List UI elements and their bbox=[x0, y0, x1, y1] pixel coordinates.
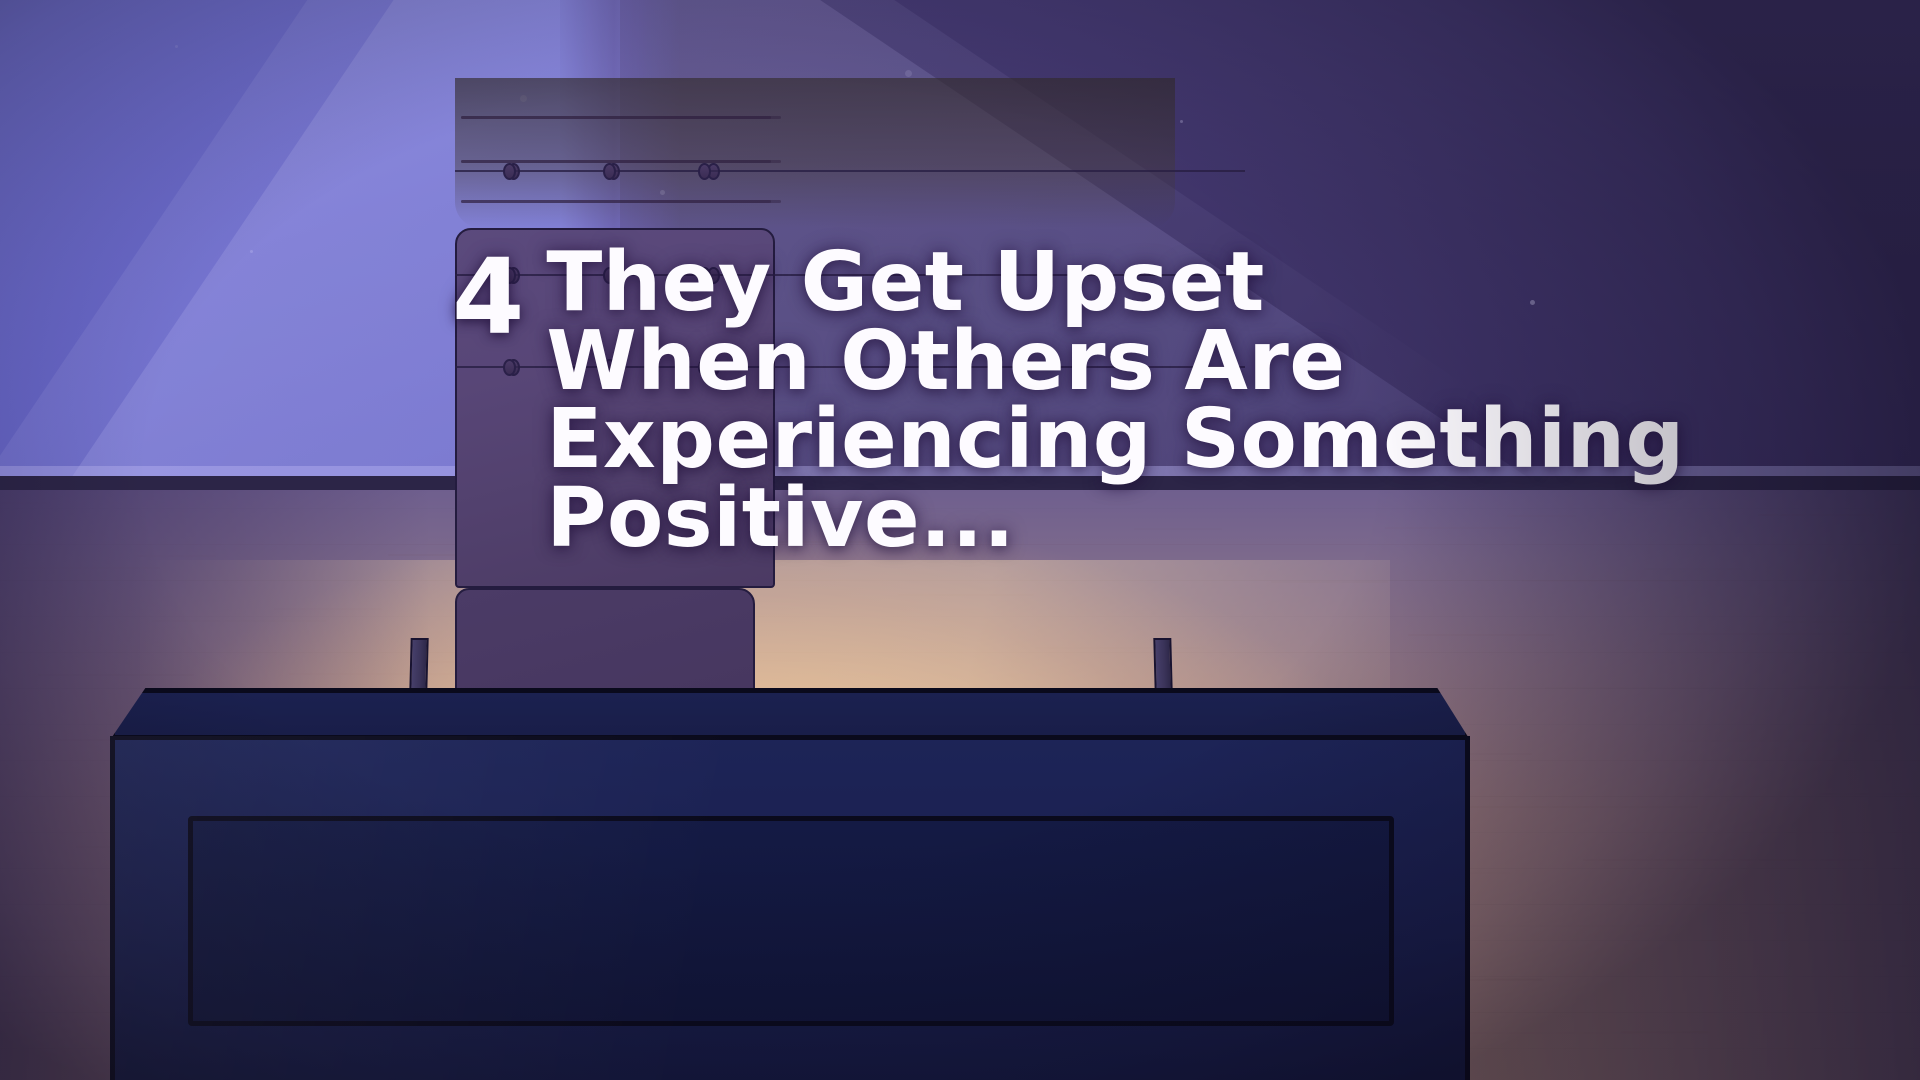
tuft-button bbox=[698, 359, 711, 376]
tuft-button bbox=[603, 359, 616, 376]
coffee-table bbox=[110, 688, 1470, 1080]
tuft-button bbox=[503, 163, 516, 180]
tuft-button bbox=[698, 163, 711, 180]
tuft-button bbox=[603, 267, 616, 284]
floor-shadow-right bbox=[1400, 490, 1920, 1080]
couch-floor-shadow bbox=[455, 78, 1175, 228]
tuft-button bbox=[503, 267, 516, 284]
floor-grain bbox=[1271, 581, 1388, 583]
tuft-button bbox=[603, 163, 616, 180]
scene-canvas: 4 They Get Upset When Others Are Experie… bbox=[0, 0, 1920, 1080]
backrest-cushion-left bbox=[455, 228, 775, 588]
tuft-button bbox=[503, 359, 516, 376]
tuft-button bbox=[698, 267, 711, 284]
table-top-surface bbox=[110, 688, 1470, 740]
table-inner-panel bbox=[188, 816, 1394, 1026]
